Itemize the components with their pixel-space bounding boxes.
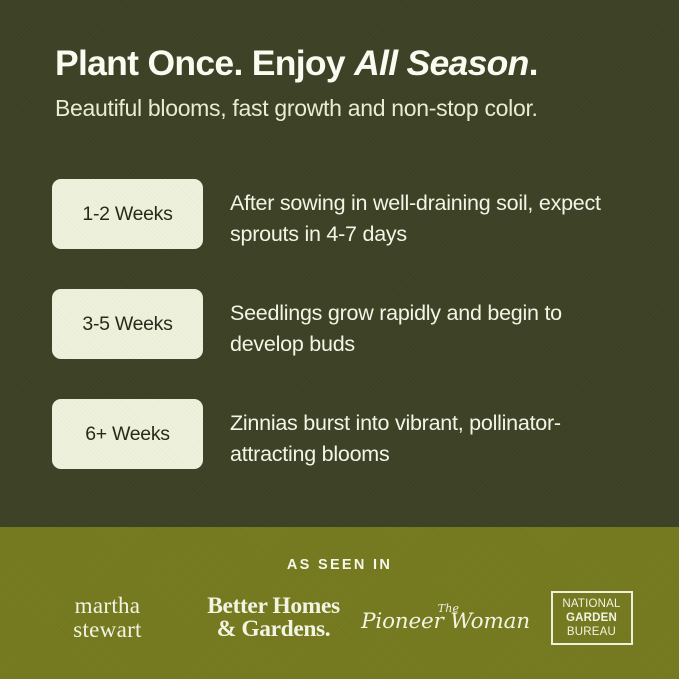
logo-martha-stewart-line1: martha	[75, 594, 141, 618]
logo-national-garden-bureau: NATIONAL GARDEN BUREAU	[532, 591, 652, 645]
logo-better-homes-and-gardens: Better Homes & Gardens.	[188, 595, 360, 642]
logo-martha-stewart-line2: stewart	[73, 618, 142, 642]
timeline-stage-badge: 1-2 Weeks	[52, 179, 203, 249]
as-seen-in-band: AS SEEN IN martha stewart Better Homes &…	[0, 527, 679, 679]
growth-timeline: 1-2 Weeks After sowing in well-draining …	[52, 179, 639, 469]
logo-the-pioneer-woman: The Pioneer Woman	[360, 603, 532, 633]
timeline-description: Seedlings grow rapidly and begin to deve…	[230, 289, 639, 359]
logo-bhg-line1: Better Homes	[207, 595, 339, 619]
timeline-stage-badge: 6+ Weeks	[52, 399, 203, 469]
timeline-row: 1-2 Weeks After sowing in well-draining …	[52, 179, 639, 249]
hero-section: Plant Once. Enjoy All Season. Beautiful …	[0, 0, 679, 527]
ngb-line-garden: GARDEN	[566, 611, 617, 625]
headline-regular-text: Plant Once. Enjoy	[55, 43, 354, 83]
page-subtitle: Beautiful blooms, fast growth and non-st…	[55, 94, 538, 123]
page-title: Plant Once. Enjoy All Season.	[55, 44, 538, 83]
timeline-stage-label: 3-5 Weeks	[82, 313, 172, 336]
ngb-logo-box: NATIONAL GARDEN BUREAU	[551, 591, 633, 645]
headline-period: .	[529, 43, 538, 83]
timeline-stage-label: 6+ Weeks	[85, 423, 170, 446]
promo-poster: Plant Once. Enjoy All Season. Beautiful …	[0, 0, 679, 679]
logo-pioneer-woman: Pioneer Woman	[361, 611, 530, 633]
logo-bhg-line2: & Gardens.	[217, 618, 331, 642]
ngb-line-bureau: BUREAU	[567, 625, 616, 639]
timeline-stage-badge: 3-5 Weeks	[52, 289, 203, 359]
ngb-line-national: NATIONAL	[562, 597, 620, 611]
timeline-row: 6+ Weeks Zinnias burst into vibrant, pol…	[52, 399, 639, 469]
as-seen-in-title: AS SEEN IN	[287, 557, 392, 573]
timeline-description: Zinnias burst into vibrant, pollinator-a…	[230, 399, 639, 469]
timeline-row: 3-5 Weeks Seedlings grow rapidly and beg…	[52, 289, 639, 359]
logo-martha-stewart: martha stewart	[28, 594, 188, 642]
timeline-description: After sowing in well-draining soil, expe…	[230, 179, 639, 249]
press-logo-row: martha stewart Better Homes & Gardens. T…	[0, 591, 679, 645]
headline-italic-text: All Season	[354, 43, 529, 83]
timeline-stage-label: 1-2 Weeks	[82, 203, 172, 226]
